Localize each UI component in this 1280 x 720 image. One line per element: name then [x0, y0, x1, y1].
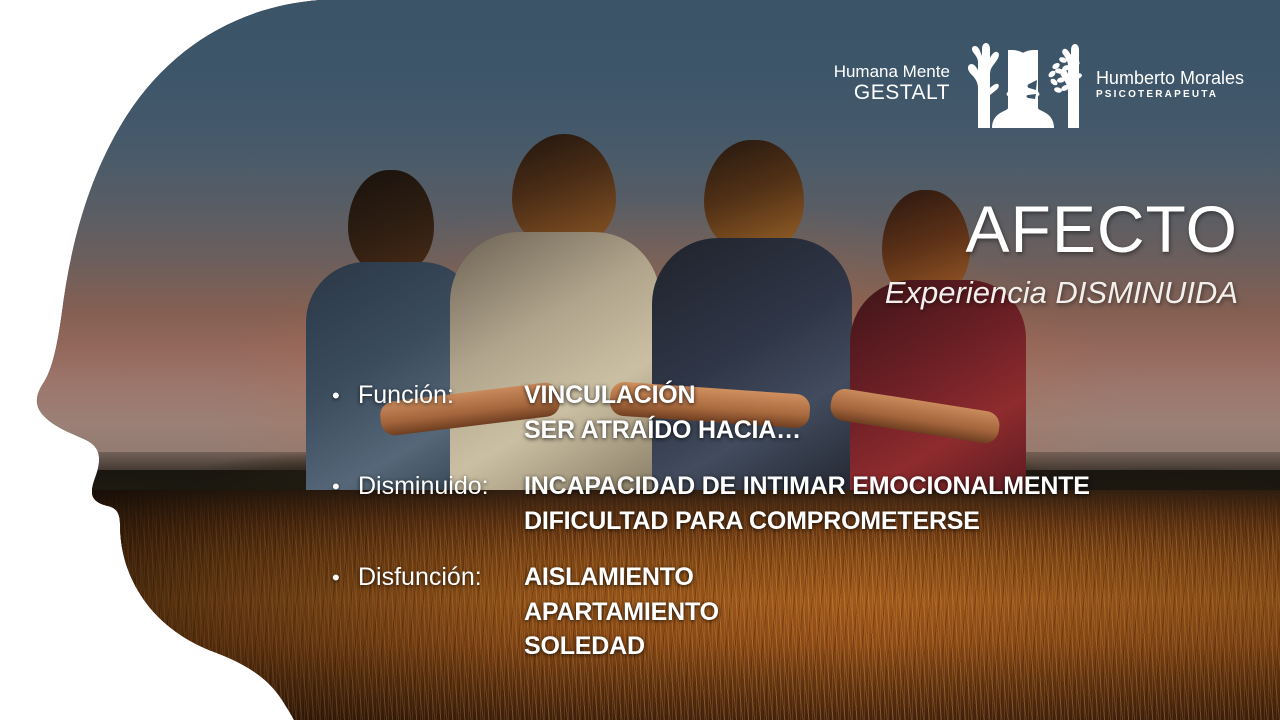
bullet-group-funcion: • Función: VINCULACIÓN SER ATRAÍDO HACIA… [332, 378, 1232, 447]
bullet-values: VINCULACIÓN SER ATRAÍDO HACIA… [524, 378, 1232, 447]
two-faces-vase-trees-icon [964, 36, 1082, 132]
bullet-value: DIFICULTAD PARA COMPROMETERSE [524, 504, 1232, 539]
bullet-value: SER ATRAÍDO HACIA… [524, 413, 1232, 448]
bullet-row: • Función: VINCULACIÓN SER ATRAÍDO HACIA… [332, 378, 1232, 447]
bullet-label: Disminuido: [358, 469, 524, 504]
page-title: AFECTO [966, 196, 1238, 262]
person-1-head [348, 170, 434, 274]
person-3-head [704, 140, 804, 252]
bullet-icon: • [332, 476, 358, 498]
logo[interactable]: Humana Mente GESTALT [834, 34, 1244, 134]
logo-brand-line2: GESTALT [834, 82, 950, 105]
bullet-value: INCAPACIDAD DE INTIMAR EMOCIONALMENTE [524, 469, 1232, 504]
bullet-icon: • [332, 385, 358, 407]
bullet-value: VINCULACIÓN [524, 378, 1232, 413]
bullet-list: • Función: VINCULACIÓN SER ATRAÍDO HACIA… [332, 378, 1232, 686]
bullet-group-disminuido: • Disminuido: INCAPACIDAD DE INTIMAR EMO… [332, 469, 1232, 538]
logo-brand-line1: Humana Mente [834, 63, 950, 81]
logo-person-name: Humberto Morales [1096, 68, 1244, 89]
logo-brand-text: Humana Mente GESTALT [834, 63, 950, 104]
page-subtitle: Experiencia DISMINUIDA [885, 277, 1238, 308]
bullet-value: APARTAMIENTO [524, 595, 1232, 630]
bullet-row: • Disminuido: INCAPACIDAD DE INTIMAR EMO… [332, 469, 1232, 538]
slide: Humana Mente GESTALT [0, 0, 1280, 720]
bullet-icon: • [332, 567, 358, 589]
bullet-label: Función: [358, 378, 524, 413]
logo-person-role: PSICOTERAPEUTA [1096, 89, 1244, 101]
bullet-row: • Disfunción: AISLAMIENTO APARTAMIENTO S… [332, 560, 1232, 664]
bullet-group-disfuncion: • Disfunción: AISLAMIENTO APARTAMIENTO S… [332, 560, 1232, 664]
person-2-head [512, 134, 616, 246]
bullet-values: INCAPACIDAD DE INTIMAR EMOCIONALMENTE DI… [524, 469, 1232, 538]
bullet-values: AISLAMIENTO APARTAMIENTO SOLEDAD [524, 560, 1232, 664]
bullet-label: Disfunción: [358, 560, 524, 595]
bullet-value: SOLEDAD [524, 629, 1232, 664]
logo-person-text: Humberto Morales PSICOTERAPEUTA [1096, 68, 1244, 100]
bullet-value: AISLAMIENTO [524, 560, 1232, 595]
